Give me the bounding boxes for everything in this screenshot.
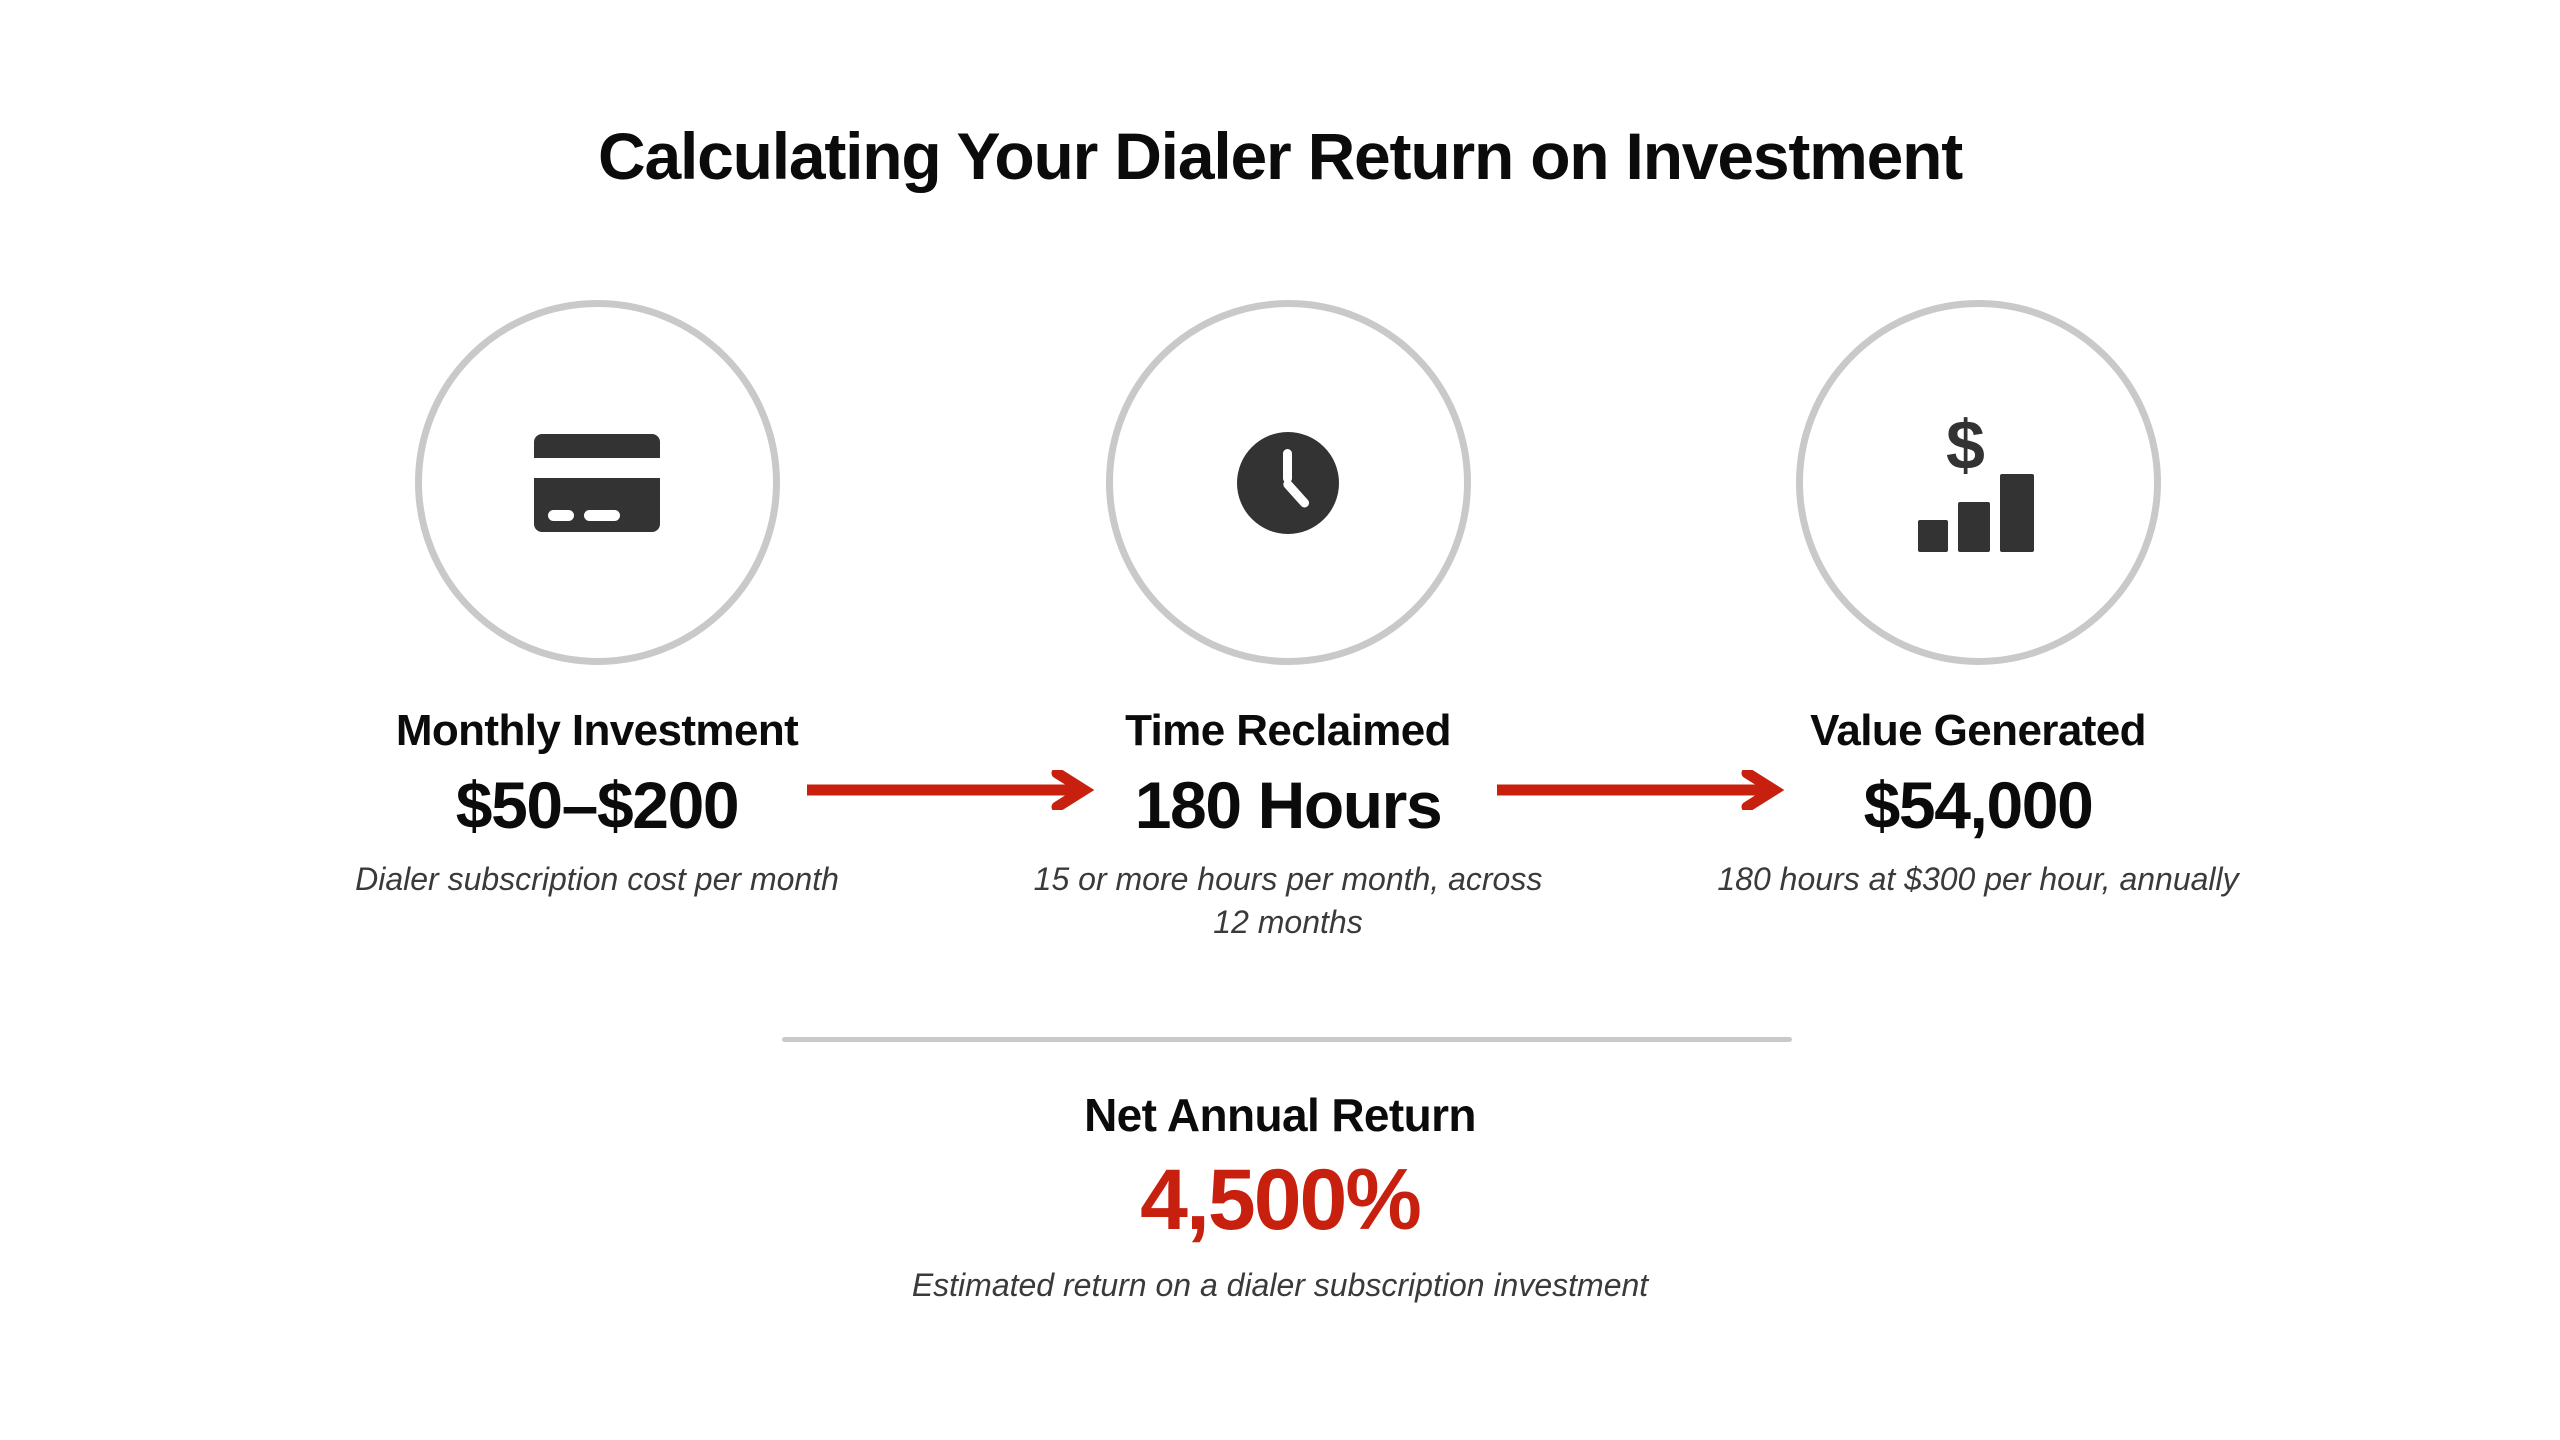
step-icon-circle — [415, 300, 780, 665]
credit-card-body — [534, 478, 660, 532]
step-label: Value Generated — [1668, 707, 2288, 755]
step-icon-circle — [1106, 300, 1471, 665]
credit-card-icon — [534, 434, 660, 532]
bar-large — [2000, 474, 2034, 552]
section-divider — [782, 1037, 1792, 1042]
step-icon-circle: $ — [1796, 300, 2161, 665]
clock-hand-minute — [1283, 449, 1292, 483]
step-time-reclaimed: Time Reclaimed 180 Hours 15 or more hour… — [978, 300, 1598, 944]
bar-medium — [1958, 502, 1990, 552]
step-label: Time Reclaimed — [978, 707, 1598, 755]
page-title: Calculating Your Dialer Return on Invest… — [0, 120, 2560, 193]
step-note: Dialer subscription cost per month — [287, 858, 907, 901]
infographic-canvas: Calculating Your Dialer Return on Invest… — [0, 0, 2560, 1440]
bar-small — [1918, 520, 1948, 552]
summary-note: Estimated return on a dialer subscriptio… — [0, 1265, 2560, 1307]
step-monthly-investment: Monthly Investment $50–$200 Dialer subsc… — [287, 300, 907, 901]
clock-icon — [1237, 432, 1339, 534]
summary-section: Net Annual Return 4,500% Estimated retur… — [0, 1090, 2560, 1307]
step-note: 180 hours at $300 per hour, annually — [1668, 858, 2288, 901]
credit-card-top-band — [534, 434, 660, 458]
step-note: 15 or more hours per month, across 12 mo… — [978, 858, 1598, 944]
step-value-generated: $ Value Generated $54,000 180 hours at $… — [1668, 300, 2288, 901]
dollar-sign-icon: $ — [1946, 410, 1985, 480]
summary-value: 4,500% — [0, 1153, 2560, 1248]
credit-card-dash-right — [584, 510, 620, 521]
step-value: $54,000 — [1668, 769, 2288, 842]
steps-row: Monthly Investment $50–$200 Dialer subsc… — [0, 300, 2560, 1000]
summary-label: Net Annual Return — [0, 1090, 2560, 1141]
credit-card-dash-left — [548, 510, 574, 521]
bar-chart-dollar-icon: $ — [1918, 414, 2038, 552]
step-label: Monthly Investment — [287, 707, 907, 755]
